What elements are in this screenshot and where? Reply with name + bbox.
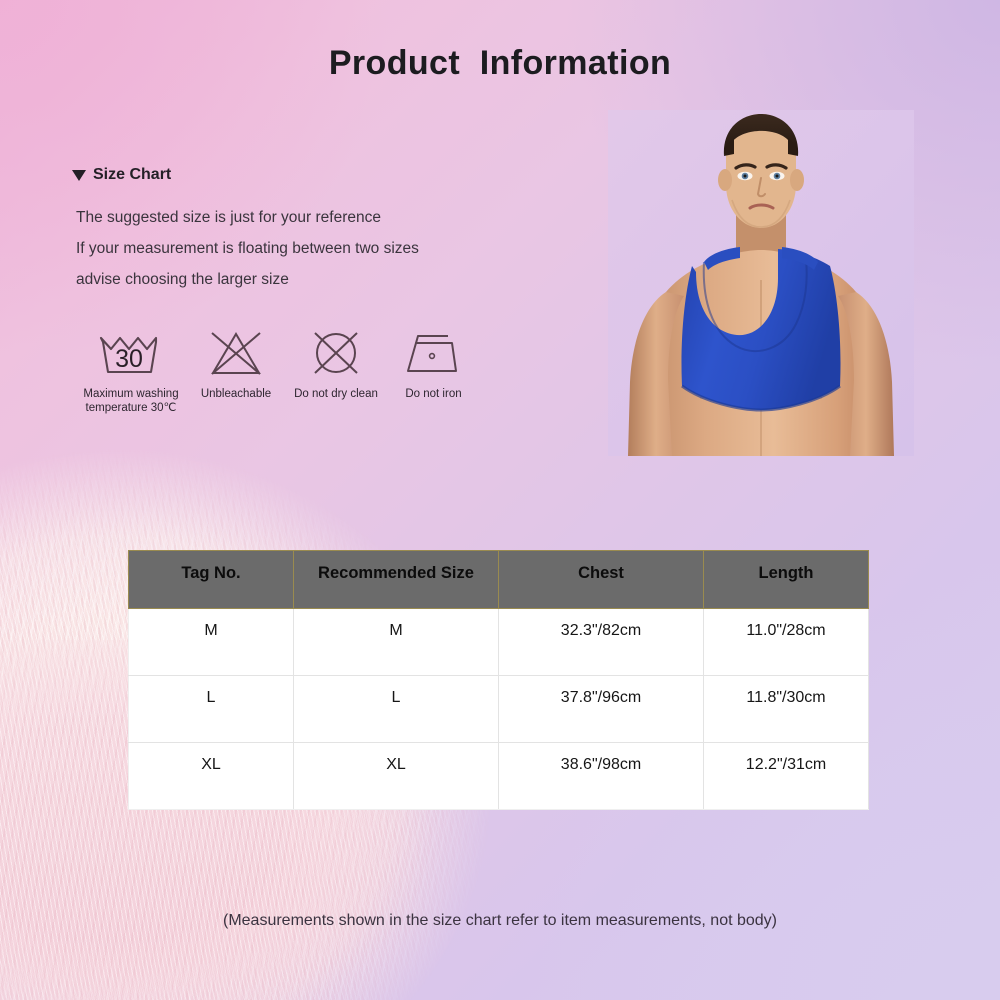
table-row: M M 32.3"/82cm 11.0"/28cm	[129, 609, 869, 676]
cell-chest: 38.6"/98cm	[499, 743, 704, 810]
cell-recommended-size: M	[294, 609, 499, 676]
column-header-length: Length	[704, 551, 869, 609]
cell-chest: 37.8"/96cm	[499, 676, 704, 743]
care-symbol-bleach-label: Unbleachable	[201, 387, 271, 401]
size-chart-heading: Size Chart	[72, 166, 171, 184]
care-symbol-iron-label: Do not iron	[405, 387, 461, 401]
care-symbol-dry-clean: Do not dry clean	[286, 328, 386, 401]
no-iron-icon	[402, 328, 466, 378]
care-symbols-row: 30 Maximum washing temperature 30℃ Unble…	[76, 328, 481, 415]
size-chart-heading-label: Size Chart	[93, 166, 171, 184]
footer-note: (Measurements shown in the size chart re…	[0, 912, 1000, 930]
cell-length: 11.0"/28cm	[704, 609, 869, 676]
table-row: XL XL 38.6"/98cm 12.2"/31cm	[129, 743, 869, 810]
product-photo	[608, 110, 914, 456]
column-header-recommended-size: Recommended Size	[294, 551, 499, 609]
cell-tag-no: L	[129, 676, 294, 743]
description-line-1: The suggested size is just for your refe…	[76, 202, 419, 233]
wash-temperature-value: 30	[115, 345, 143, 373]
size-chart-description: The suggested size is just for your refe…	[76, 202, 419, 295]
cell-length: 12.2"/31cm	[704, 743, 869, 810]
care-symbol-wash-label: Maximum washing temperature 30℃	[83, 387, 178, 415]
column-header-chest: Chest	[499, 551, 704, 609]
care-symbol-bleach: Unbleachable	[186, 328, 286, 401]
page-title: Product Information	[0, 44, 1000, 83]
care-symbol-dry-clean-label: Do not dry clean	[294, 387, 378, 401]
no-bleach-triangle-icon	[205, 328, 267, 378]
table-row: L L 37.8"/96cm 11.8"/30cm	[129, 676, 869, 743]
triangle-down-icon	[72, 170, 86, 181]
cell-recommended-size: L	[294, 676, 499, 743]
care-symbol-iron: Do not iron	[386, 328, 481, 401]
description-line-2: If your measurement is floating between …	[76, 233, 419, 264]
cell-chest: 32.3"/82cm	[499, 609, 704, 676]
cell-recommended-size: XL	[294, 743, 499, 810]
size-chart-table: Tag No. Recommended Size Chest Length M …	[128, 550, 869, 810]
wash-tub-30-icon: 30	[95, 328, 167, 378]
table-header-row: Tag No. Recommended Size Chest Length	[129, 551, 869, 609]
cell-length: 11.8"/30cm	[704, 676, 869, 743]
care-symbol-wash: 30 Maximum washing temperature 30℃	[76, 328, 186, 415]
description-line-3: advise choosing the larger size	[76, 264, 419, 295]
column-header-tag-no: Tag No.	[129, 551, 294, 609]
cell-tag-no: M	[129, 609, 294, 676]
no-dry-clean-circle-icon	[306, 328, 366, 378]
cell-tag-no: XL	[129, 743, 294, 810]
product-information-page: Product Information Size Chart The sugge…	[0, 0, 1000, 1000]
